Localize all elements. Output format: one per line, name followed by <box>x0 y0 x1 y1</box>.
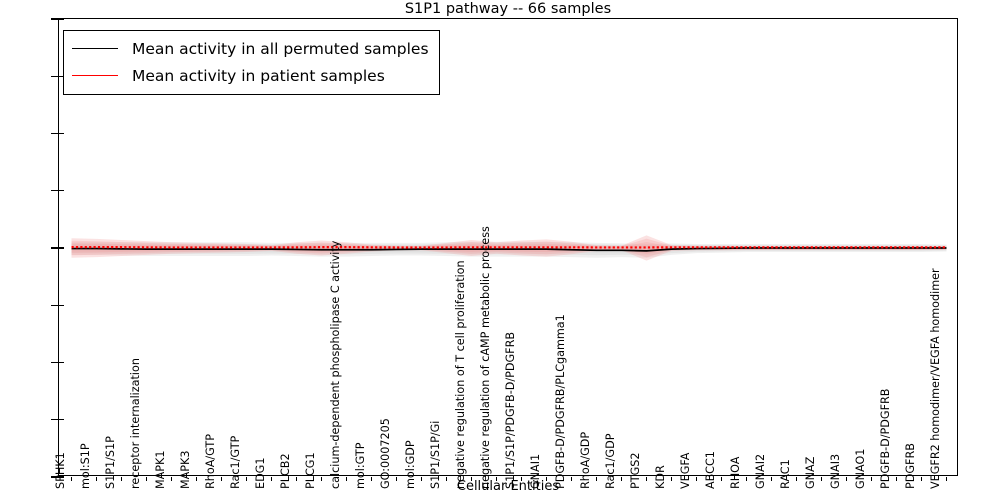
x-tick-label: PDGFB-D/PDGFRB <box>880 389 891 489</box>
y-tick-mark-inner <box>59 247 64 248</box>
y-tick-mark <box>51 362 59 363</box>
y-tick-mark-inner <box>59 362 64 363</box>
x-tick-label: receptor internalization <box>130 358 141 489</box>
y-tick-mark-inner <box>59 18 64 19</box>
x-tick-label: PDGFB-D/PDGFRB/PLCgamma1 <box>555 314 566 489</box>
x-tick-label: negative regulation of cAMP metabolic pr… <box>480 226 491 489</box>
y-tick-mark-inner <box>59 419 64 420</box>
legend[interactable]: Mean activity in all permuted samples Me… <box>63 30 440 95</box>
legend-swatch-permuted-line <box>72 48 118 49</box>
y-tick-mark <box>51 18 59 19</box>
y-tick-mark-inner <box>59 305 64 306</box>
legend-label-patient: Mean activity in patient samples <box>132 67 385 85</box>
y-tick-mark <box>51 419 59 420</box>
legend-swatch-patient-line <box>72 75 118 76</box>
legend-label-permuted: Mean activity in all permuted samples <box>132 40 429 58</box>
chart-title: S1P1 pathway -- 66 samples <box>58 0 958 18</box>
legend-item-patient[interactable]: Mean activity in patient samples <box>72 62 429 89</box>
x-axis-label: Cellular Entities <box>58 479 958 497</box>
x-tick-label: S1P1/S1P/PDGFB-D/PDGFRB <box>505 332 516 489</box>
legend-item-permuted[interactable]: Mean activity in all permuted samples <box>72 35 429 62</box>
y-tick-mark <box>51 247 59 248</box>
y-tick-mark-inner <box>59 133 64 134</box>
x-tick-label: negative regulation of T cell proliferat… <box>455 260 466 489</box>
y-tick-mark <box>51 133 59 134</box>
y-tick-mark <box>51 305 59 306</box>
figure: S1P1 pathway -- 66 samples Inferred Acti… <box>0 0 1000 500</box>
x-tick-label: calcium-dependent phospholipase C activi… <box>330 241 341 489</box>
y-tick-mark-inner <box>59 190 64 191</box>
y-tick-mark <box>51 76 59 77</box>
y-tick-mark <box>51 190 59 191</box>
x-tick-label: VEGFR2 homodimer/VEGFA homodimer <box>930 268 941 489</box>
